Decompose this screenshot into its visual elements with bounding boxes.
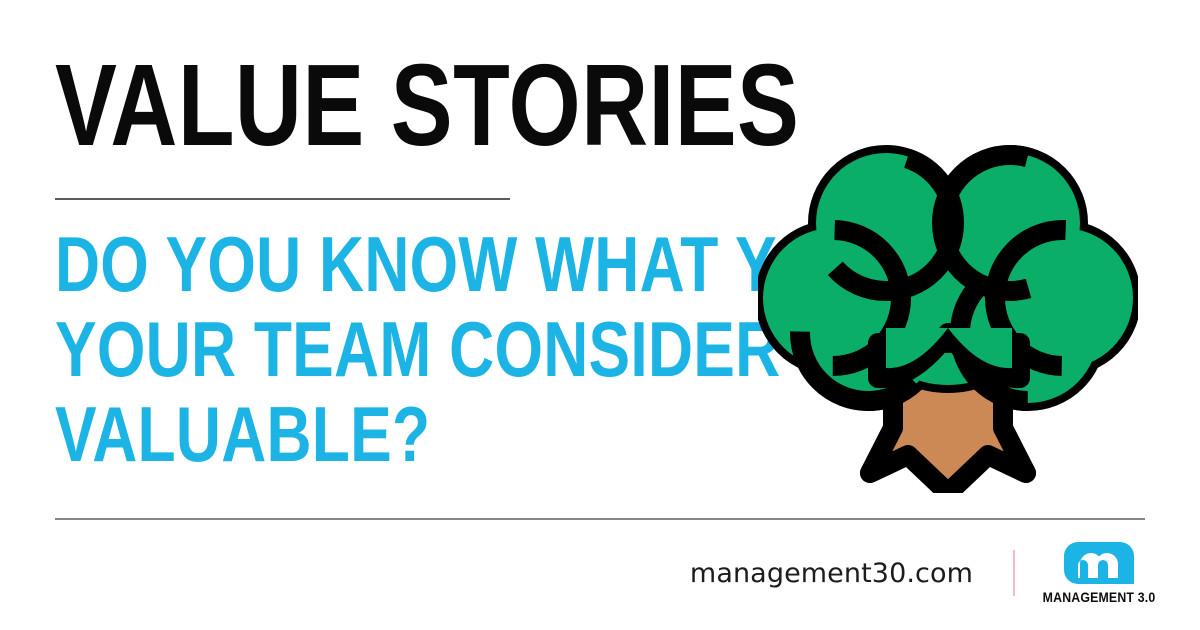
tree-illustration xyxy=(758,128,1138,493)
social-card: VALUE STORIES DO YOU KNOW WHAT YOU AND Y… xyxy=(0,0,1200,630)
brand-logo[interactable]: MANAGEMENT 3.0 xyxy=(1053,542,1145,605)
page-title: VALUE STORIES xyxy=(55,52,583,159)
subtitle-line-3: VALUABLE? xyxy=(55,392,663,477)
tree-canopy xyxy=(763,153,1133,403)
subtitle-line-2: YOUR TEAM CONSIDER TO BE xyxy=(55,307,663,392)
headline-block: VALUE STORIES xyxy=(55,52,715,159)
footer: management30.com MANAGEMENT 3.0 xyxy=(55,528,1145,618)
footer-divider-rule xyxy=(55,518,1145,520)
site-url[interactable]: management30.com xyxy=(690,558,973,589)
subtitle-line-1: DO YOU KNOW WHAT YOU AND xyxy=(55,222,663,307)
title-divider-rule xyxy=(55,198,510,200)
brand-wordmark: MANAGEMENT 3.0 xyxy=(1043,589,1156,605)
subtitle-block: DO YOU KNOW WHAT YOU AND YOUR TEAM CONSI… xyxy=(55,222,663,477)
management30-m-logo-icon xyxy=(1064,542,1134,584)
footer-vertical-divider xyxy=(1013,550,1015,596)
